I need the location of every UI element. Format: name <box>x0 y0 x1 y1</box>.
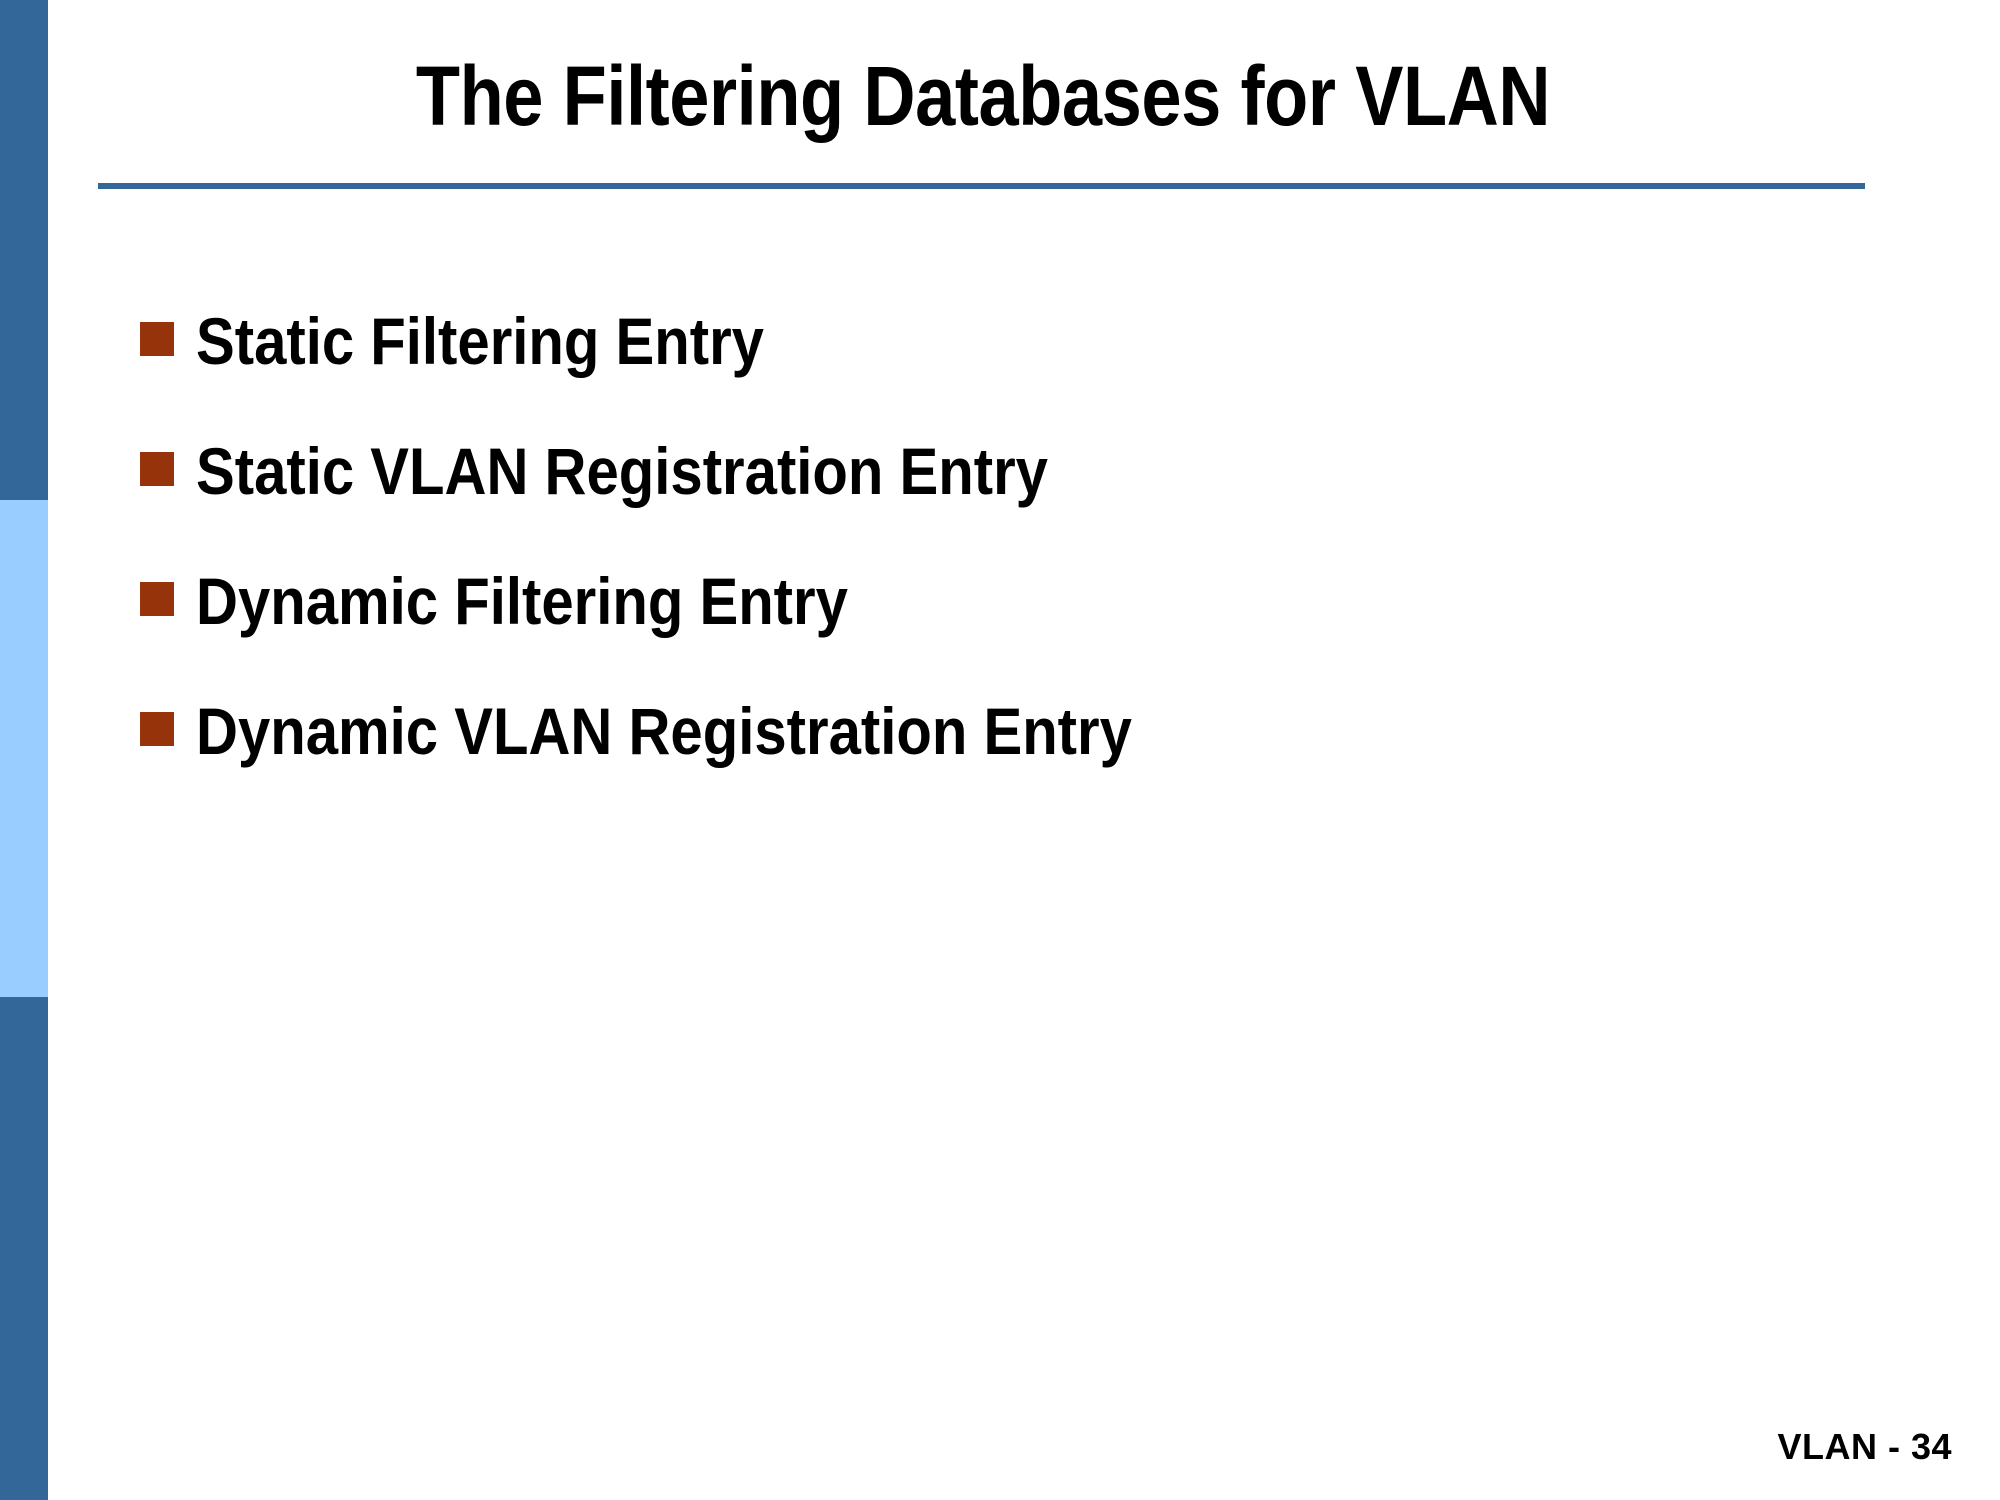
list-item-label: Static Filtering Entry <box>196 300 764 374</box>
slide-title: The Filtering Databases for VLAN <box>222 52 1744 140</box>
list-item-label: Dynamic VLAN Registration Entry <box>196 690 1132 764</box>
bullet-list: Static Filtering Entry Static VLAN Regis… <box>140 300 1840 820</box>
square-bullet-icon <box>140 712 174 746</box>
left-accent-bar <box>0 0 48 1500</box>
slide-canvas: The Filtering Databases for VLAN Static … <box>0 0 2000 1500</box>
title-block: The Filtering Databases for VLAN <box>98 52 1868 140</box>
square-bullet-icon <box>140 582 174 616</box>
square-bullet-icon <box>140 452 174 486</box>
title-divider-rule <box>98 183 1865 189</box>
list-item-label: Static VLAN Registration Entry <box>196 430 1048 504</box>
list-item-label: Dynamic Filtering Entry <box>196 560 848 634</box>
accent-bar-segment-top <box>0 0 48 500</box>
accent-bar-segment-middle <box>0 500 48 997</box>
accent-bar-segment-bottom <box>0 997 48 1500</box>
list-item: Static Filtering Entry <box>140 300 1840 430</box>
slide-footer-label: VLAN - 34 <box>1777 1426 1952 1468</box>
list-item: Dynamic VLAN Registration Entry <box>140 690 1840 820</box>
list-item: Static VLAN Registration Entry <box>140 430 1840 560</box>
square-bullet-icon <box>140 322 174 356</box>
list-item: Dynamic Filtering Entry <box>140 560 1840 690</box>
